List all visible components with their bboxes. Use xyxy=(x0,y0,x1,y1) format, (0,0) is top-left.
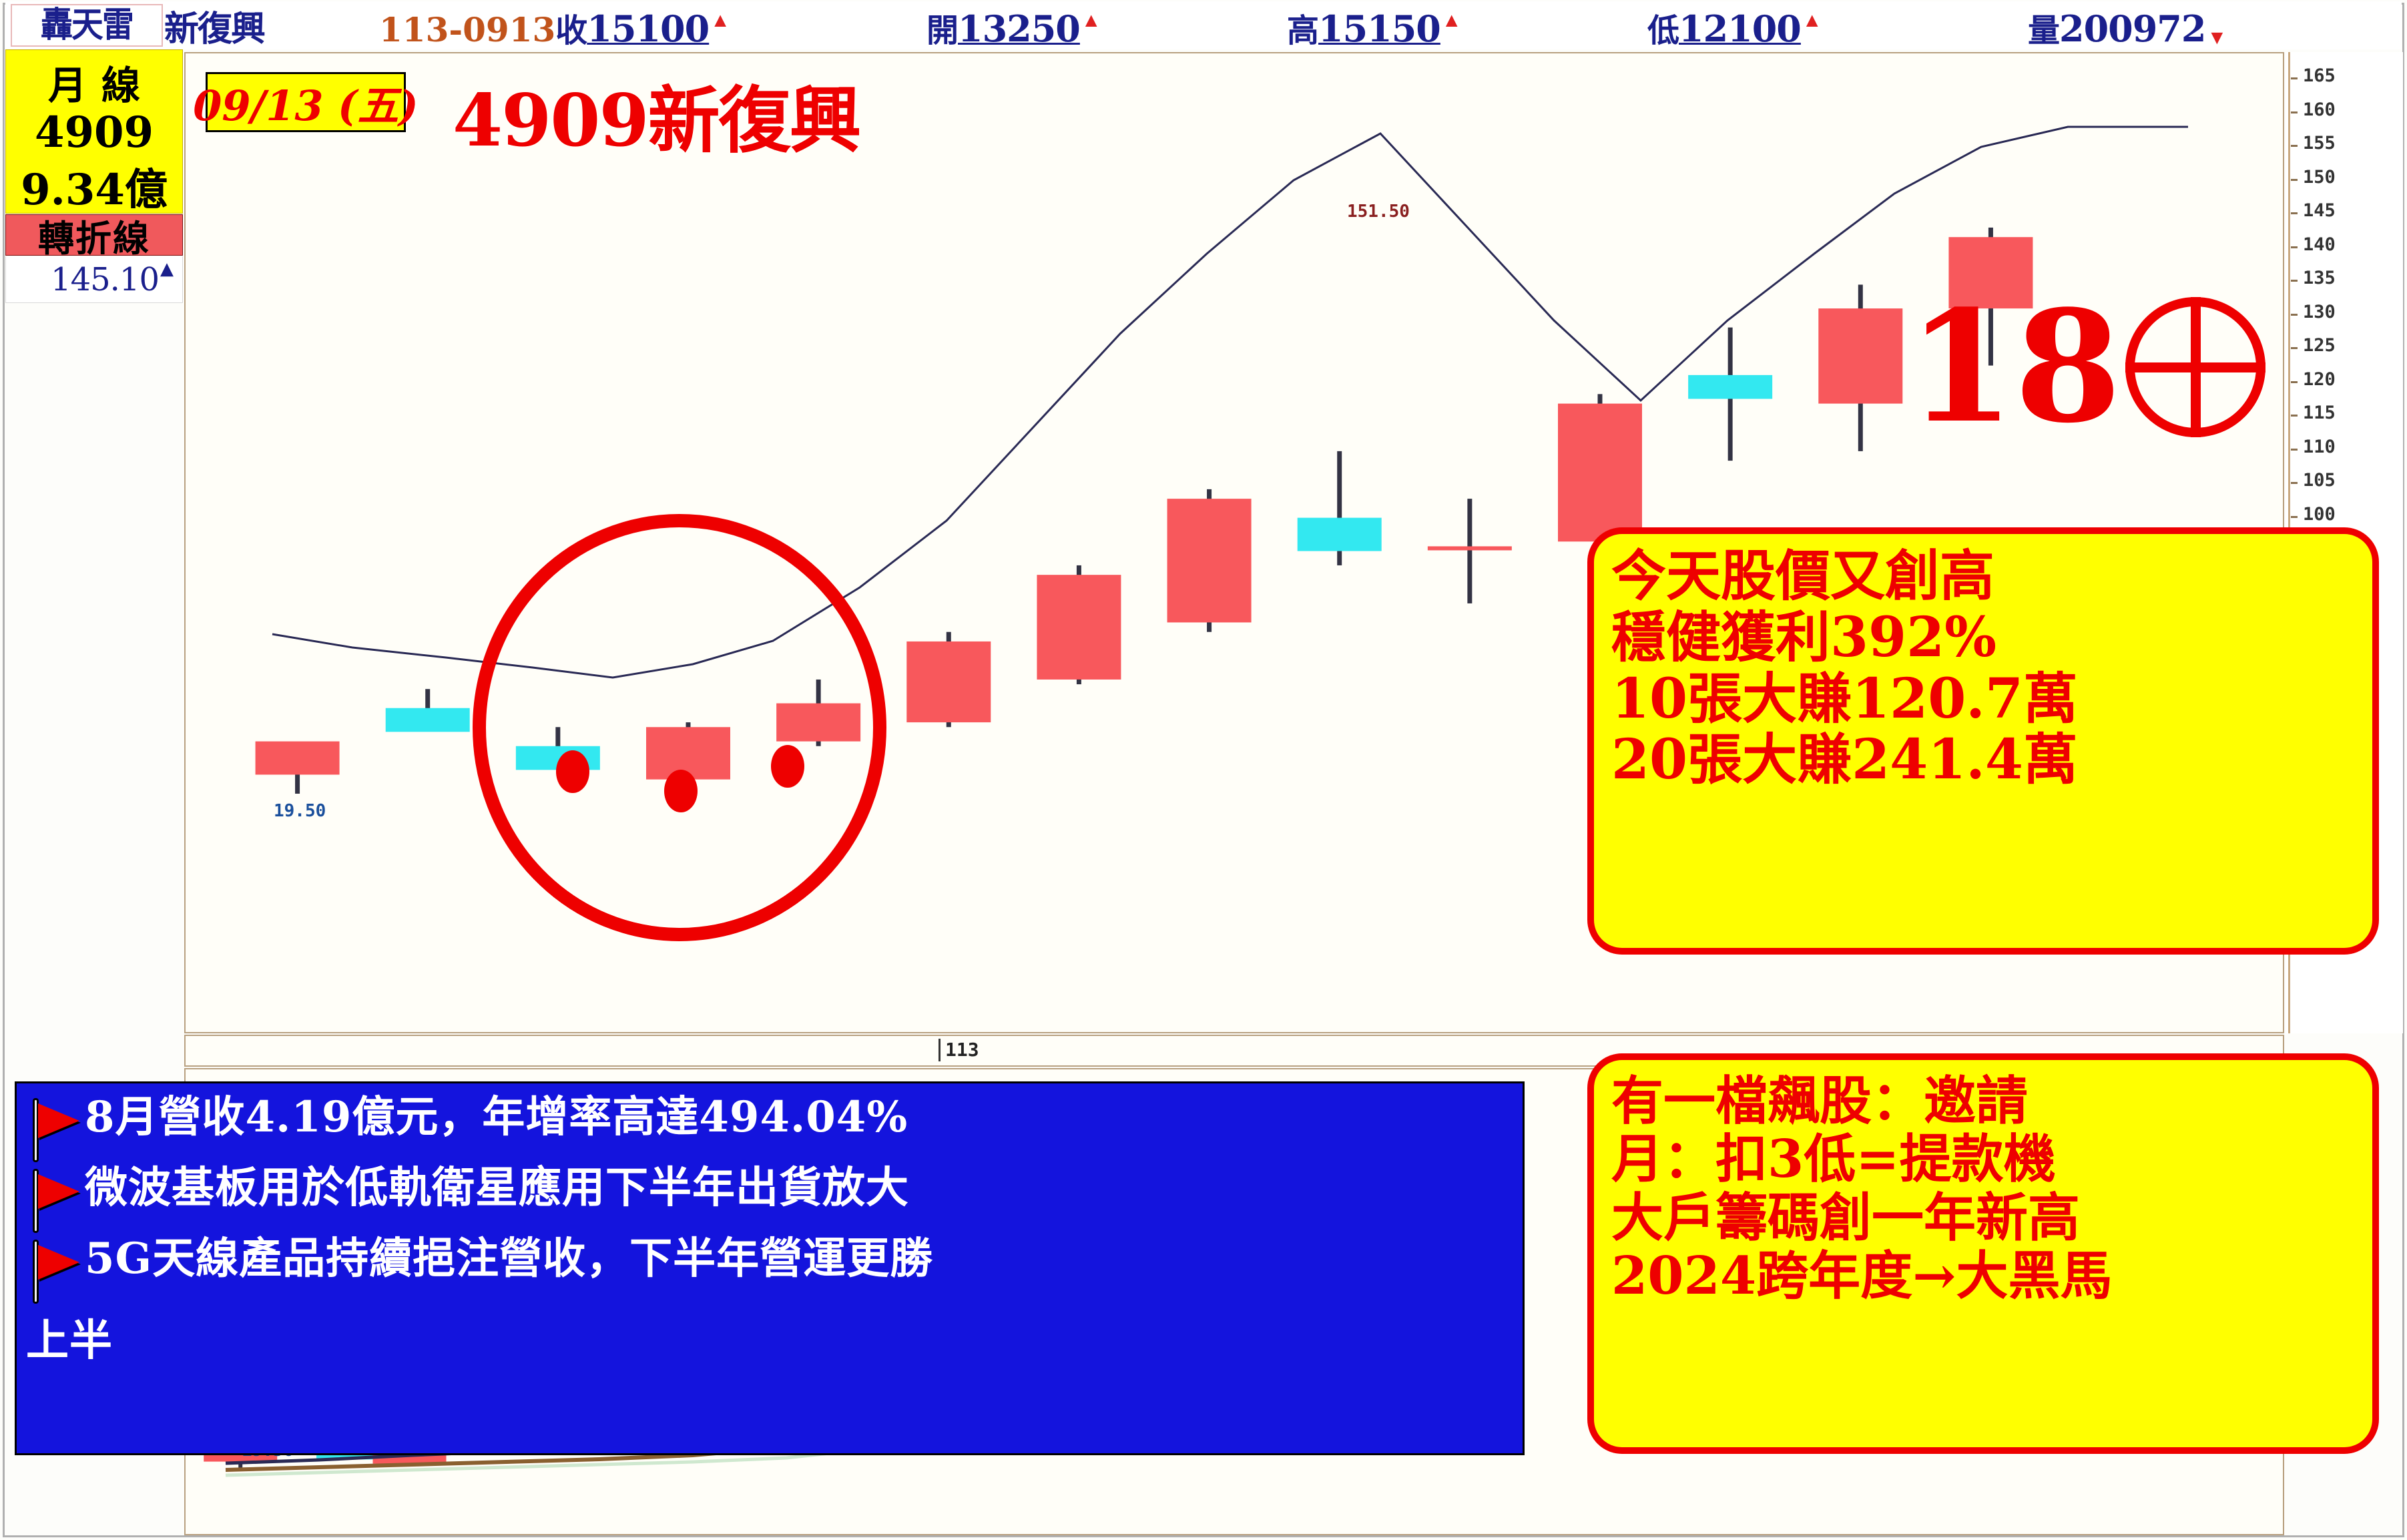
close-label: 收 xyxy=(555,4,587,51)
price-axis-tickmark xyxy=(2291,482,2298,484)
volume-value: 200972 xyxy=(2059,7,2205,50)
candle-body xyxy=(1558,404,1642,542)
candle-body xyxy=(906,641,991,722)
indicator-name-badge[interactable]: 轉折線 xyxy=(5,214,183,256)
price-axis-tickmark xyxy=(2291,77,2298,79)
stock-code: 4909 xyxy=(6,107,182,158)
profit-callout-line: 10張大賺120.7萬 xyxy=(1611,669,2355,730)
price-axis-tickmark xyxy=(2291,314,2298,316)
candle-body xyxy=(1818,308,1902,404)
price-tag-high: 151.50 xyxy=(1347,202,1410,222)
red-flag-icon xyxy=(23,1165,82,1234)
news-overflow-text: 上半 xyxy=(26,1306,1516,1368)
price-axis-ticklabel: 105 xyxy=(2303,471,2336,489)
candle-body xyxy=(1167,499,1252,622)
candle-body xyxy=(1037,575,1121,680)
open-value: 13250 xyxy=(958,7,1080,50)
candle-body xyxy=(646,727,730,779)
price-axis-ticklabel: 150 xyxy=(2303,168,2336,186)
promo-callout-line: 月：扣3低=提款機 xyxy=(1611,1130,2355,1188)
left-info-panel: 月線 4909 9.34億 轉折線 145.10 ▲ xyxy=(5,49,184,330)
close-value: 15100 xyxy=(587,7,709,50)
price-axis-ticklabel: 165 xyxy=(2303,67,2336,85)
price-tag-low: 19.50 xyxy=(274,801,326,821)
price-axis-ticklabel: 115 xyxy=(2303,404,2336,422)
high-arrow-up-icon: ▲ xyxy=(1442,9,1462,32)
price-axis-ticklabel: 135 xyxy=(2303,269,2336,287)
candle-body xyxy=(256,742,340,775)
candle-body xyxy=(1298,518,1382,551)
price-axis-ticklabel: 145 xyxy=(2303,202,2336,220)
news-item-text: 5G天線產品持續挹注營收，下半年營運更勝 xyxy=(85,1236,933,1282)
news-panel: 8月營收4.19億元，年增率高達494.04% 微波基板用於低軌衛星應用下半年出… xyxy=(15,1081,1525,1455)
price-axis-ticklabel: 140 xyxy=(2303,236,2336,254)
volume-label: 量 xyxy=(2028,4,2059,51)
low-label: 低 xyxy=(1647,4,1679,51)
news-item-text: 微波基板用於低軌衛星應用下半年出貨放大 xyxy=(85,1165,909,1211)
period-label: 月線 xyxy=(6,54,182,110)
app-logo-label: 轟天雷 xyxy=(41,8,133,43)
promo-callout-line: 有一檔飆股：邀請 xyxy=(1611,1072,2355,1130)
period-summary-card[interactable]: 月線 4909 9.34億 xyxy=(5,49,183,214)
indicator-arrow-up-icon: ▲ xyxy=(160,259,173,279)
turnover-amount: 9.34億 xyxy=(6,156,182,217)
profit-callout-line: 穩健獲利392% xyxy=(1611,607,2355,669)
price-axis-tickmark xyxy=(2291,111,2298,113)
red-flag-icon xyxy=(23,1236,82,1305)
price-axis-tickmark xyxy=(2291,347,2298,349)
quote-date: 113-0913 xyxy=(379,10,555,49)
app-logo: 轟天雷 xyxy=(11,4,163,47)
open-arrow-up-icon: ▲ xyxy=(1081,9,1101,32)
stock-name: 新復興 xyxy=(164,4,264,47)
candle-body xyxy=(776,704,860,742)
news-item: 微波基板用於低軌衛星應用下半年出貨放大 xyxy=(23,1165,1516,1234)
price-axis-ticklabel: 120 xyxy=(2303,370,2336,389)
low-arrow-up-icon: ▲ xyxy=(1802,9,1822,32)
price-axis-tickmark xyxy=(2291,381,2298,383)
count-badge-number: 18 xyxy=(1908,290,2121,444)
price-axis-tickmark xyxy=(2291,449,2298,451)
promo-callout: 有一檔飆股：邀請 月：扣3低=提款機 大戶籌碼創一年新高 2024跨年度→大黑馬 xyxy=(1587,1053,2379,1454)
high-label: 高 xyxy=(1287,4,1318,51)
price-axis-tickmark xyxy=(2291,212,2298,214)
profit-callout-line: 20張大賺241.4萬 xyxy=(1611,730,2355,791)
price-axis-ticklabel: 110 xyxy=(2303,438,2336,456)
chart-title: 4909新復興 xyxy=(453,63,860,167)
close-arrow-up-icon: ▲ xyxy=(710,9,730,32)
candle-wick xyxy=(1467,499,1472,603)
price-axis-ticklabel: 100 xyxy=(2303,505,2336,523)
price-axis-tickmark xyxy=(2291,415,2298,417)
date-badge-label: 09/13 (五) xyxy=(193,72,418,132)
indicator-value: 145.10 xyxy=(51,261,159,298)
indicator-label: 轉折線 xyxy=(38,209,150,262)
red-flag-icon xyxy=(23,1094,82,1164)
promo-callout-line: 大戶籌碼創一年新高 xyxy=(1611,1189,2355,1247)
open-label: 開 xyxy=(926,4,958,51)
field-date-close: 113-0913 收 15100 ▲ xyxy=(379,4,730,47)
price-axis-tickmark xyxy=(2291,179,2298,181)
top-info-bar: 轟天雷 新復興 113-0913 收 15100 ▲ 開 13250 ▲ 高 1… xyxy=(5,1,2402,49)
price-axis-tickmark xyxy=(2291,246,2298,248)
field-volume: 量 200972 ▼ xyxy=(2028,4,2227,47)
price-axis-ticklabel: 155 xyxy=(2303,134,2336,152)
price-axis-tickmark xyxy=(2291,516,2298,518)
promo-callout-line: 2024跨年度→大黑馬 xyxy=(1611,1247,2355,1305)
field-low: 低 12100 ▲ xyxy=(1647,4,1822,47)
low-value: 12100 xyxy=(1679,7,1801,50)
screenshot-root: 轟天雷 新復興 113-0913 收 15100 ▲ 開 13250 ▲ 高 1… xyxy=(0,0,2407,1540)
indicator-value-card: 145.10 ▲ xyxy=(5,256,183,303)
count-badge: 18 xyxy=(1908,290,2265,444)
news-item: 5G天線產品持續挹注營收，下半年營運更勝 xyxy=(23,1236,1516,1305)
date-axis-label: 113 xyxy=(945,1039,979,1061)
profit-callout-line: 今天股價又創高 xyxy=(1611,546,2355,607)
cross-circle-icon xyxy=(2125,297,2265,437)
price-axis-ticklabel: 130 xyxy=(2303,303,2336,321)
profit-callout: 今天股價又創高 穩健獲利392% 10張大賺120.7萬 20張大賺241.4萬 xyxy=(1587,527,2379,955)
price-axis-ticklabel: 125 xyxy=(2303,336,2336,354)
field-open: 開 13250 ▲ xyxy=(926,4,1101,47)
price-axis-tickmark xyxy=(2291,145,2298,147)
price-axis-ticklabel: 160 xyxy=(2303,101,2336,119)
date-badge: 09/13 (五) xyxy=(206,72,406,132)
news-item: 8月營收4.19億元，年增率高達494.04% xyxy=(23,1094,1516,1164)
date-axis-tick xyxy=(939,1039,941,1061)
price-axis-tickmark xyxy=(2291,280,2298,282)
field-high: 高 15150 ▲ xyxy=(1287,4,1462,47)
high-value: 15150 xyxy=(1318,7,1440,50)
news-item-text: 8月營收4.19億元，年增率高達494.04% xyxy=(85,1094,908,1140)
volume-arrow-down-icon: ▼ xyxy=(2207,27,2227,49)
candle-body xyxy=(386,708,470,732)
candle-body xyxy=(1428,546,1512,550)
candle-body xyxy=(1688,375,1772,399)
